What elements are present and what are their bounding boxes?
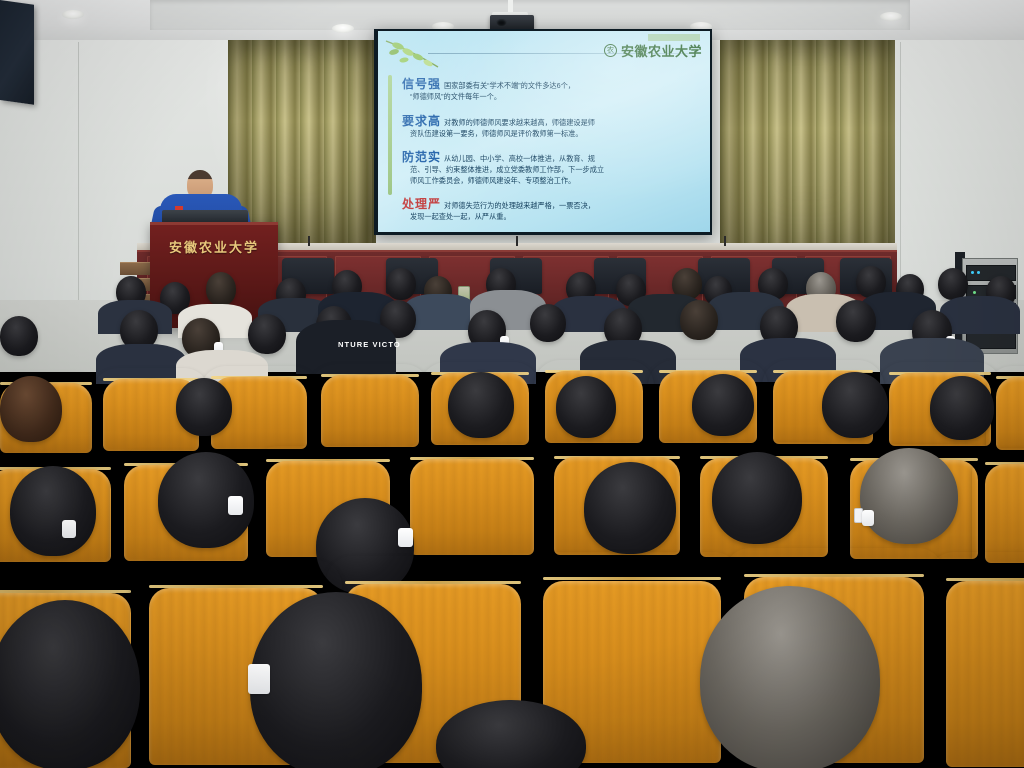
table-microphone-icon [308, 236, 310, 246]
audience-head [556, 376, 616, 438]
face-mask [398, 528, 413, 547]
slide-block-key: 信号强 [402, 75, 441, 92]
av-status-led [973, 291, 976, 294]
university-logo: 农 安徽农业大学 [604, 41, 702, 60]
seat-back-panel [996, 377, 1024, 450]
audience-head [0, 376, 62, 442]
audience-head [822, 372, 888, 438]
auditorium-seat[interactable] [310, 364, 430, 450]
audience-head [0, 316, 38, 356]
slide-block-first-line: 要求高 对教师的师德师风要求越来越高，师德建设是师 [402, 112, 698, 129]
downlight-icon [880, 12, 902, 21]
audience-head [836, 300, 876, 342]
slide-block: 防范实 从幼儿园、中小学、高校一体推进，从教育、规 范、引导、约束整体推进，成立… [402, 148, 698, 186]
university-logo-text: 安徽农业大学 [621, 41, 702, 60]
slide-block: 处理严 对师德失范行为的处理越来越严格，一票否决， 发现一起查处一起，从严从重。 [402, 195, 698, 223]
slide-block: 信号强 国家部委有关“学术不端”的文件多达6个， “师德师风”的文件每年一个。 [402, 75, 698, 103]
downlight-icon [332, 24, 354, 33]
audience-head [448, 372, 514, 438]
audience-head [386, 268, 416, 300]
slide-block-line: 对教师的师德师风要求越来越高，师德建设是师 [444, 118, 595, 129]
audience-head [860, 448, 958, 544]
slide-block-line: 从幼儿园、中小学、高校一体推进，从教育、规 [444, 154, 595, 165]
audience-head [248, 314, 286, 354]
slide-block-line: 发现一起查处一起，从严从重。 [402, 212, 698, 223]
slide-block-line: 国家部委有关“学术不端”的文件多达6个， [444, 81, 575, 92]
slide-block-key: 处理严 [402, 195, 441, 212]
slide-block-key: 要求高 [402, 112, 441, 129]
slide-block-first-line: 处理严 对师德失范行为的处理越来越严格，一票否决， [402, 195, 698, 212]
auditorium-seat[interactable] [972, 448, 1024, 568]
auditorium-seat[interactable] [928, 552, 1024, 768]
downlight-icon [62, 10, 84, 19]
seat-back-panel [410, 459, 535, 555]
audience-head [206, 272, 236, 306]
slide-block-line: 资队伍建设第一要务，师德师风是评价教师第一标准。 [402, 129, 698, 140]
slide-block-line: 范、引导、约束整体推进，成立党委教师工作部，下一步成立 [402, 165, 698, 176]
audience-head [250, 592, 422, 768]
audience-head [712, 452, 802, 544]
slide-block-first-line: 防范实 从幼儿园、中小学、高校一体推进，从教育、规 [402, 148, 698, 165]
audience-head [584, 462, 676, 554]
slide-block-key: 防范实 [402, 148, 441, 165]
slide-block-line: “师德师风”的文件每年一个。 [402, 92, 698, 103]
audience-head [10, 466, 96, 556]
face-mask [62, 520, 76, 538]
slide-accent-bar [388, 75, 392, 195]
auditorium-seat[interactable] [396, 444, 548, 560]
seat-back-panel [946, 581, 1024, 767]
audience-head [692, 374, 754, 436]
slide-block-line: 对师德失范行为的处理越来越严格，一票否决， [444, 201, 595, 212]
jacket-print-text: NTURE VICTO [338, 340, 401, 349]
seat-back-panel [321, 375, 419, 446]
face-mask [228, 496, 243, 515]
face-mask [248, 664, 270, 694]
slide-block-line: 师风工作委员会，师德师风建设年、专项整治工作。 [402, 176, 698, 187]
wall-seam [78, 42, 79, 342]
audience-head [680, 300, 718, 340]
lecture-hall-photo: 农 安徽农业大学 信号强 国家部委有关“学术不端”的文件多达6个， “师德师风”… [0, 0, 1024, 768]
branch-leaf-icon [384, 37, 470, 79]
slide-block-first-line: 信号强 国家部委有关“学术不端”的文件多达6个， [402, 75, 698, 92]
audience-head [700, 586, 880, 768]
table-microphone-icon [724, 236, 726, 246]
av-status-led [977, 271, 980, 274]
wall-mounted-monitor [0, 0, 34, 105]
audience-head [938, 268, 968, 300]
audience-head [930, 376, 994, 440]
table-microphone-icon [516, 236, 518, 246]
seat-back-panel [985, 464, 1024, 564]
face-mask [862, 510, 874, 526]
audience-head [0, 600, 140, 768]
audience-shoulders [940, 296, 1020, 334]
podium-label: 安徽农业大学 [150, 237, 278, 256]
slide-content: 信号强 国家部委有关“学术不端”的文件多达6个， “师德师风”的文件每年一个。 … [402, 75, 698, 232]
audience-head [176, 378, 232, 436]
slide-logo-tab [648, 34, 700, 41]
presentation-slide: 农 安徽农业大学 信号强 国家部委有关“学术不端”的文件多达6个， “师德师风”… [378, 31, 710, 232]
university-seal-icon: 农 [604, 44, 617, 57]
projection-screen: 农 安徽农业大学 信号强 国家部委有关“学术不端”的文件多达6个， “师德师风”… [374, 29, 712, 235]
av-status-led [971, 271, 974, 274]
seat-trim [543, 577, 720, 580]
audience-head [530, 304, 566, 342]
slide-block: 要求高 对教师的师德师风要求越来越高，师德建设是师 资队伍建设第一要务，师德师风… [402, 112, 698, 140]
